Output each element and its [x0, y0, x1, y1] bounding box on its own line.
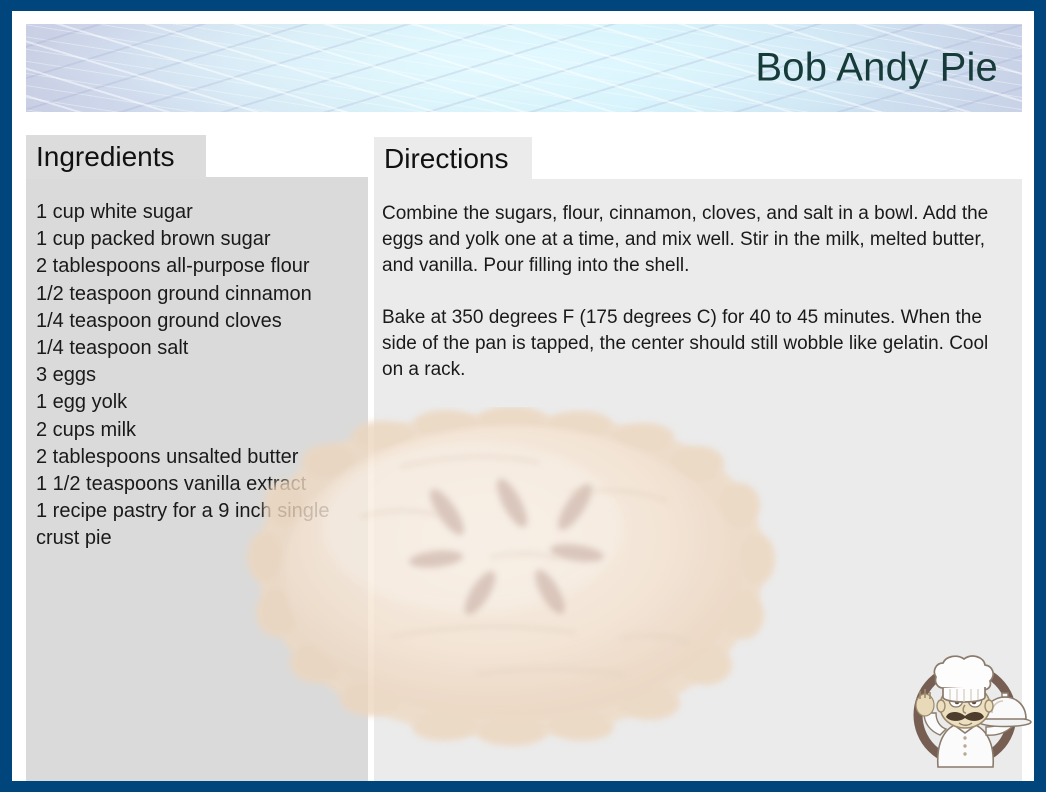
header-banner: Bob Andy Pie: [26, 24, 1022, 112]
ingredient-item: 1/4 teaspoon salt: [36, 335, 354, 362]
ingredient-item: 2 cups milk: [36, 417, 354, 444]
ingredient-item: 2 tablespoons all-purpose flour: [36, 253, 354, 280]
ingredient-item: 1 cup packed brown sugar: [36, 226, 354, 253]
ingredient-item: 1 1/2 teaspoons vanilla extract: [36, 471, 354, 498]
recipe-page: Bob Andy Pie Ingredients Directions 1 cu…: [12, 11, 1034, 781]
section-heading-ingredients: Ingredients: [26, 135, 206, 179]
direction-paragraph: Combine the sugars, flour, cinnamon, clo…: [382, 201, 1008, 279]
recipe-card: Bob Andy Pie Ingredients Directions 1 cu…: [0, 0, 1046, 792]
ingredient-item: 1/2 teaspoon ground cinnamon: [36, 281, 354, 308]
ingredient-item: 1 egg yolk: [36, 389, 354, 416]
ingredient-item: 1 recipe pastry for a 9 inch single crus…: [36, 498, 354, 552]
ingredient-item: 1/4 teaspoon ground cloves: [36, 308, 354, 335]
ingredient-item: 3 eggs: [36, 362, 354, 389]
section-heading-directions: Directions: [374, 137, 532, 181]
ingredients-panel: 1 cup white sugar 1 cup packed brown sug…: [26, 177, 368, 781]
chef-logo: [902, 643, 1032, 775]
direction-paragraph: Bake at 350 degrees F (175 degrees C) fo…: [382, 305, 1008, 383]
ingredient-item: 2 tablespoons unsalted butter: [36, 444, 354, 471]
page-title: Bob Andy Pie: [755, 46, 998, 91]
ingredient-item: 1 cup white sugar: [36, 199, 354, 226]
